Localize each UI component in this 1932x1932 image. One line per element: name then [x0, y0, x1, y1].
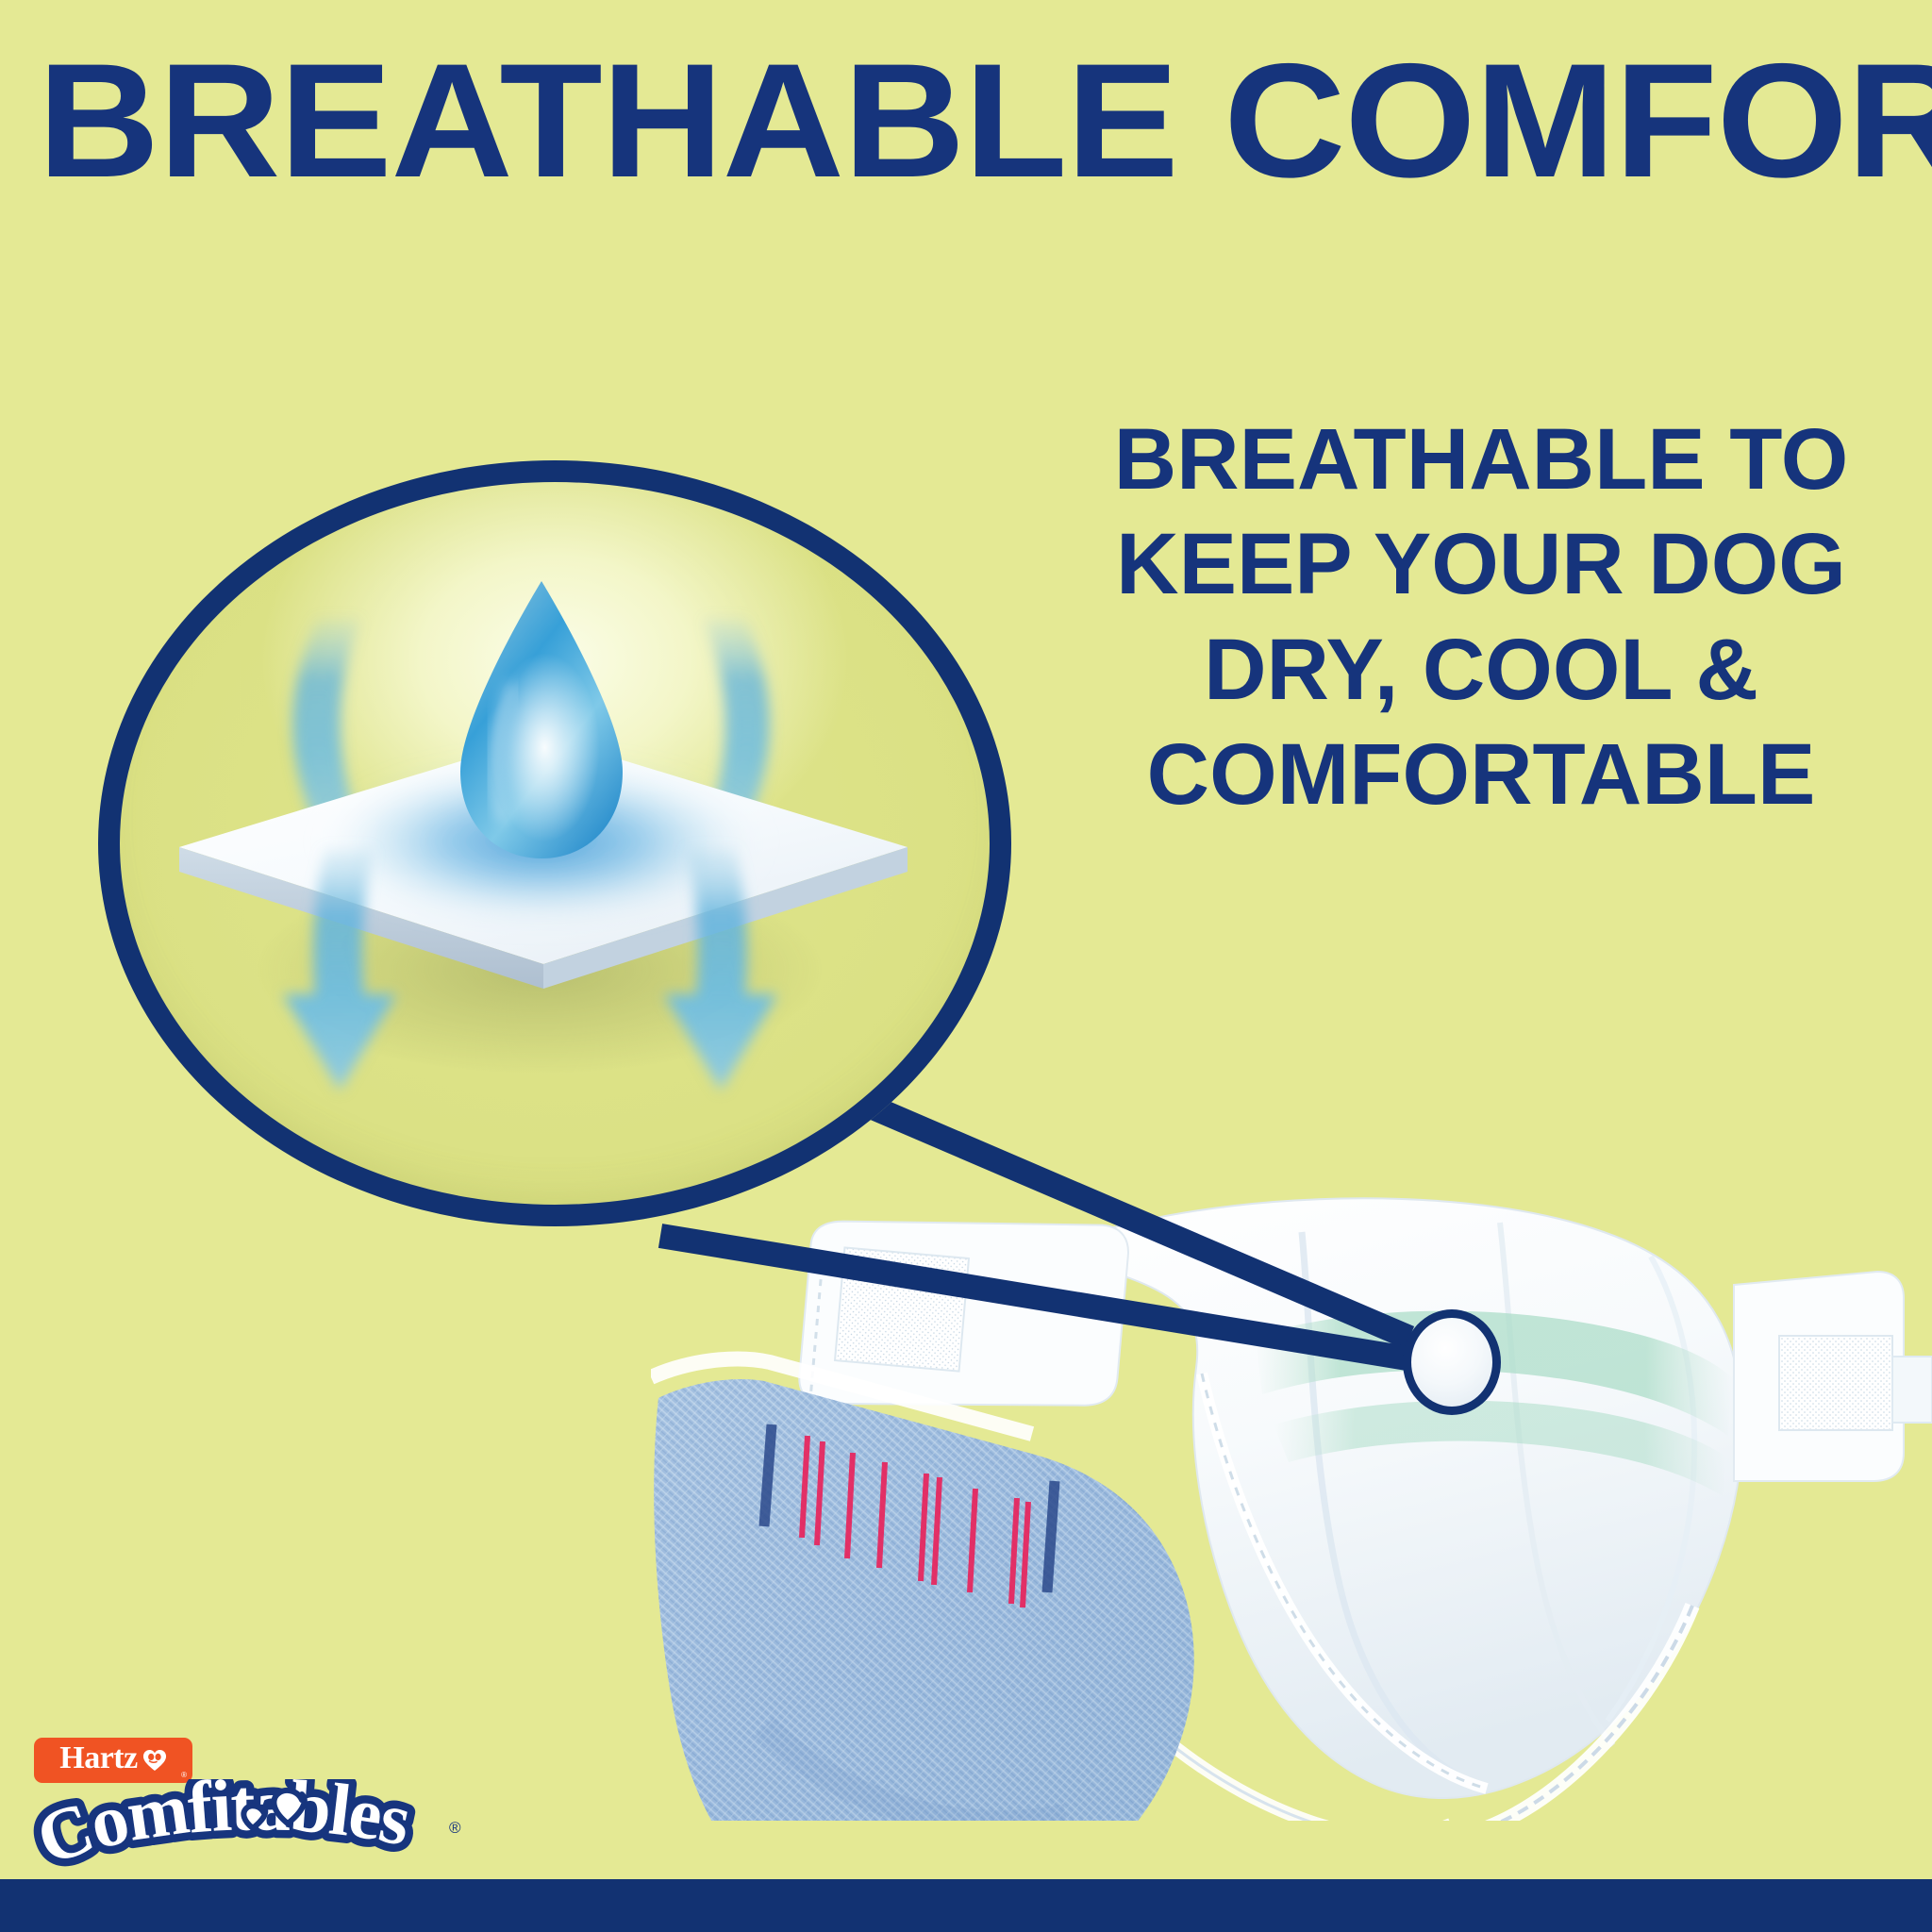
diaper-right-tab [1734, 1272, 1932, 1481]
benefit-line-1: BREATHABLE TO [1038, 408, 1924, 512]
comfitables-registered-mark: ® [449, 1819, 461, 1838]
hartz-wordmark: Hartz [59, 1742, 137, 1774]
benefit-line-2: KEEP YOUR DOG [1038, 512, 1924, 617]
hartz-logo-badge: Hartz ® [34, 1738, 192, 1783]
benefit-line-4: COMFORTABLE [1038, 723, 1924, 827]
zoom-target-circle [1403, 1309, 1501, 1415]
brand-lockup: Hartz ® Comfitables [26, 1738, 555, 1890]
page-title: BREATHABLE COMFORT [38, 40, 1932, 202]
diaper-left-tab [797, 1200, 1130, 1429]
magnifier-ring [98, 460, 1011, 1226]
footer-bar [0, 1879, 1932, 1932]
svg-text:Comfitables: Comfitables [26, 1779, 417, 1880]
benefit-copy-block: BREATHABLE TO KEEP YOUR DOG DRY, COOL & … [1038, 408, 1924, 827]
hartz-registered-mark: ® [181, 1771, 187, 1779]
comfitables-wordmark: Comfitables Comfitables [26, 1779, 460, 1889]
poster-canvas: BREATHABLE COMFORT BREATHABLE TO KEEP YO… [0, 0, 1932, 1932]
diaper-denim-panel [651, 1359, 1194, 1821]
benefit-line-3: DRY, COOL & [1038, 618, 1924, 723]
hartz-heart-pet-icon [142, 1749, 167, 1772]
breathability-magnifier [98, 460, 1011, 1226]
dog-diaper-product-image [651, 1141, 1932, 1821]
